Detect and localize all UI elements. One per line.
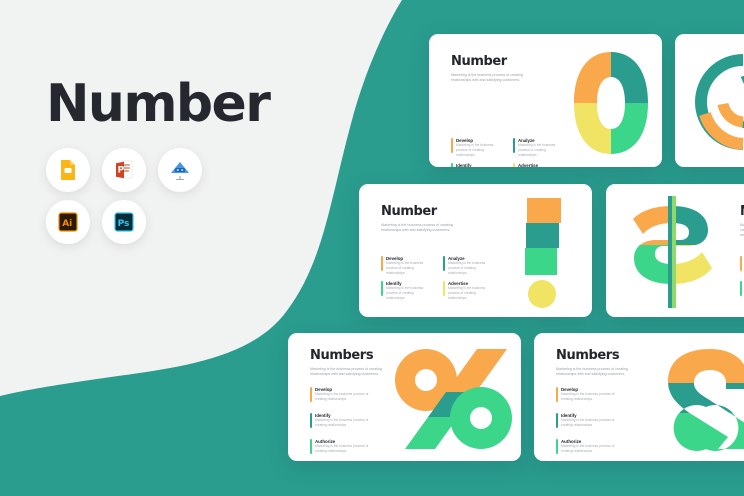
slide-title: Numbers	[556, 349, 619, 362]
page-title: Number	[46, 78, 306, 130]
feature-desc: Marketing is the business process of cre…	[518, 143, 565, 158]
slide-subtitle: Marketing is the business process of cre…	[740, 223, 744, 239]
feature-accent-bar	[381, 256, 383, 271]
glyph-dollar	[624, 196, 720, 308]
slide-card-zero[interactable]: Number Marketing is the business process…	[429, 34, 662, 167]
app-icon-row-primary: P	[46, 148, 202, 192]
feature-title: Advertise	[518, 163, 565, 167]
feature-desc: Marketing is the business process of cre…	[315, 444, 370, 454]
feature-desc: Marketing is the business process of cre…	[386, 286, 433, 301]
feature-item[interactable]: Analyze Marketing is the business proces…	[513, 138, 565, 158]
feature-item[interactable]: Develop Marketing is the business proces…	[310, 387, 370, 402]
poster-stage: Number P	[0, 0, 744, 496]
promo-block: Number	[46, 78, 306, 130]
slide-title: Number	[740, 205, 744, 218]
svg-text:Ai: Ai	[62, 219, 72, 229]
feature-accent-bar	[513, 138, 515, 153]
feature-accent-bar	[513, 163, 515, 167]
feature-accent-bar	[443, 281, 445, 296]
slide-card-percent[interactable]: Numbers Marketing is the business proces…	[288, 333, 521, 461]
slide-card-exclamation[interactable]: Number Marketing is the business process…	[359, 184, 592, 317]
feature-title: Identify	[456, 163, 503, 167]
feature-item[interactable]: Develop Marketing is the business proces…	[451, 138, 503, 158]
glyph-ampersand	[652, 345, 744, 453]
feature-accent-bar	[381, 281, 383, 296]
slide-title: Numbers	[310, 349, 373, 362]
slide-card-at[interactable]	[675, 34, 744, 167]
svg-text:Ps: Ps	[118, 219, 130, 229]
feature-accent-bar	[556, 387, 558, 402]
feature-accent-bar	[740, 256, 742, 271]
feature-accent-bar	[451, 163, 453, 167]
google-slides-icon[interactable]	[46, 148, 90, 192]
feature-item[interactable]: Identify Marketing is the business proce…	[310, 413, 370, 428]
glyph-exclamation	[518, 198, 570, 308]
slide-subtitle: Marketing is the business process of cre…	[381, 223, 467, 233]
slide-card-ampersand[interactable]: Numbers Marketing is the business proces…	[534, 333, 744, 461]
app-icon-row-secondary: Ai Ps	[46, 200, 146, 244]
illustrator-icon[interactable]: Ai	[46, 200, 90, 244]
feature-desc: Marketing is the business process of cre…	[456, 143, 503, 158]
feature-desc: Marketing is the business process of cre…	[561, 392, 616, 402]
feature-accent-bar	[556, 413, 558, 428]
feature-accent-bar	[310, 439, 312, 454]
slide-subtitle: Marketing is the business process of cre…	[556, 367, 642, 377]
feature-desc: Marketing is the business process of cre…	[386, 261, 433, 276]
feature-desc: Marketing is the business process of cre…	[561, 444, 616, 454]
feature-desc: Marketing is the business process of cre…	[315, 418, 370, 428]
slide-subtitle: Marketing is the business process of cre…	[451, 73, 537, 83]
feature-desc: Marketing is the business process of cre…	[448, 286, 495, 301]
feature-desc: Marketing is the business process of cre…	[315, 392, 370, 402]
feature-item[interactable]: Advertise Marketing is the business proc…	[513, 163, 565, 167]
keynote-icon[interactable]	[158, 148, 202, 192]
feature-accent-bar	[310, 413, 312, 428]
slide-card-dollar[interactable]: Number Marketing is the business process…	[606, 184, 744, 317]
feature-item[interactable]: Advertise Marketing is the business proc…	[443, 281, 495, 301]
powerpoint-icon[interactable]: P	[102, 148, 146, 192]
feature-item[interactable]: Develop Marketing is the business proces…	[381, 256, 433, 276]
glyph-zero	[569, 50, 653, 156]
glyph-at	[685, 52, 744, 152]
photoshop-icon[interactable]: Ps	[102, 200, 146, 244]
glyph-percent	[393, 347, 517, 452]
feature-item[interactable]: Authorize Marketing is the business proc…	[310, 439, 370, 454]
feature-desc: Marketing is the business process of cre…	[561, 418, 616, 428]
feature-item[interactable]: Authorize Marketing is the business proc…	[556, 439, 616, 454]
slide-subtitle: Marketing is the business process of cre…	[310, 367, 396, 377]
svg-text:P: P	[118, 166, 125, 176]
feature-accent-bar	[310, 387, 312, 402]
feature-item[interactable]: Identify Marketing is the business proce…	[451, 163, 503, 167]
feature-accent-bar	[556, 439, 558, 454]
feature-item[interactable]: Identify Marketing is the business proce…	[556, 413, 616, 428]
slide-title: Number	[451, 55, 507, 68]
feature-desc: Marketing is the business process of cre…	[448, 261, 495, 276]
feature-item[interactable]: Develop Marketing is the business proces…	[556, 387, 616, 402]
feature-item[interactable]: Identify Marketing is the business proce…	[381, 281, 433, 301]
feature-accent-bar	[451, 138, 453, 153]
slide-title: Number	[381, 205, 437, 218]
feature-accent-bar	[740, 281, 742, 296]
feature-accent-bar	[443, 256, 445, 271]
feature-item[interactable]: Analyze Marketing is the business proces…	[443, 256, 495, 276]
